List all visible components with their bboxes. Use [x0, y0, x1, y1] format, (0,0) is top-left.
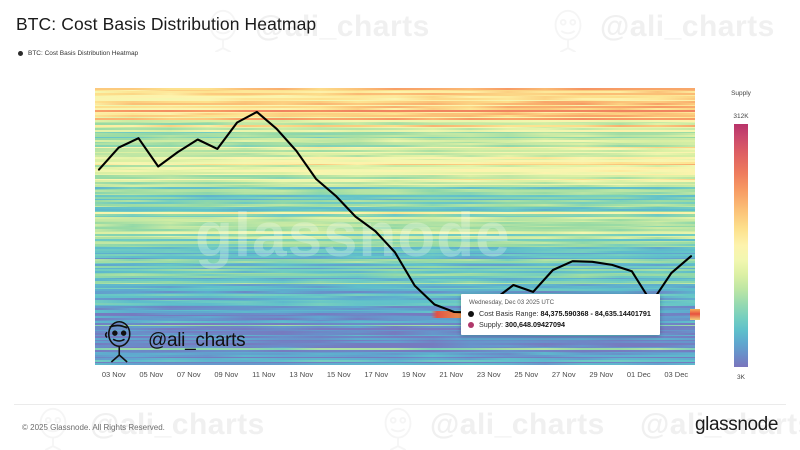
- legend-marker-icon: [18, 51, 23, 56]
- x-tick-label: 03 Dec: [664, 370, 688, 379]
- copyright-text: © 2025 Glassnode. All Rights Reserved.: [22, 423, 165, 432]
- tooltip-cost-basis-text: Cost Basis Range: 84,375.590368 - 84,635…: [479, 309, 651, 318]
- colorbar-min-label: 3K: [737, 374, 745, 381]
- tooltip-supply-label: Supply:: [479, 320, 503, 329]
- tooltip-supply-value: 300,648.09427094: [505, 320, 565, 329]
- ali-handle-label: @ali_charts: [148, 330, 245, 352]
- glassnode-logo: glassnode: [695, 414, 778, 436]
- x-tick-label: 19 Nov: [402, 370, 426, 379]
- x-tick-label: 27 Nov: [552, 370, 576, 379]
- x-tick-label: 29 Nov: [589, 370, 613, 379]
- ali-face-icon: [100, 318, 142, 364]
- chart-page: @ali_charts @ali_charts @ali_charts @ali…: [0, 0, 800, 450]
- ali-charts-watermark: @ali_charts: [100, 318, 245, 364]
- colorbar-max-label: 312K: [733, 113, 748, 120]
- series-legend[interactable]: BTC: Cost Basis Distribution Heatmap: [18, 50, 138, 57]
- tooltip-cost-basis-value: 84,375.590368 - 84,635.14401791: [541, 309, 651, 318]
- highlighted-row-band-edge: [690, 309, 700, 320]
- legend-label: BTC: Cost Basis Distribution Heatmap: [28, 50, 138, 57]
- x-tick-label: 09 Nov: [214, 370, 238, 379]
- x-tick-label: 01 Dec: [627, 370, 651, 379]
- x-tick-label: 11 Nov: [252, 370, 275, 379]
- colorbar-title: Supply: [731, 90, 751, 97]
- tooltip-cost-basis-label: Cost Basis Range:: [479, 309, 539, 318]
- x-tick-label: 13 Nov: [289, 370, 313, 379]
- tooltip-date: Wednesday, Dec 03 2025 UTC: [468, 299, 651, 306]
- x-tick-label: 05 Nov: [139, 370, 163, 379]
- tooltip-marker-icon: [468, 311, 474, 317]
- page-title: BTC: Cost Basis Distribution Heatmap: [16, 14, 316, 35]
- plot-area[interactable]: 99.837K 89.837K 3740104K 03 Nov05 Nov07 …: [0, 0, 800, 450]
- colorbar-gradient: [734, 124, 748, 367]
- x-tick-label: 21 Nov: [439, 370, 463, 379]
- footer-divider: [14, 404, 786, 405]
- x-tick-label: 23 Nov: [477, 370, 501, 379]
- x-tick-label: 17 Nov: [364, 370, 388, 379]
- x-tick-label: 03 Nov: [102, 370, 126, 379]
- tooltip-row-cost-basis: Cost Basis Range: 84,375.590368 - 84,635…: [468, 309, 651, 318]
- tooltip-marker-icon: [468, 322, 474, 328]
- tooltip-row-supply: Supply: 300,648.09427094: [468, 320, 651, 329]
- chart-tooltip: Wednesday, Dec 03 2025 UTC Cost Basis Ra…: [461, 294, 660, 335]
- x-tick-label: 07 Nov: [177, 370, 201, 379]
- x-tick-label: 25 Nov: [514, 370, 538, 379]
- x-tick-label: 15 Nov: [327, 370, 351, 379]
- tooltip-supply-text: Supply: 300,648.09427094: [479, 320, 565, 329]
